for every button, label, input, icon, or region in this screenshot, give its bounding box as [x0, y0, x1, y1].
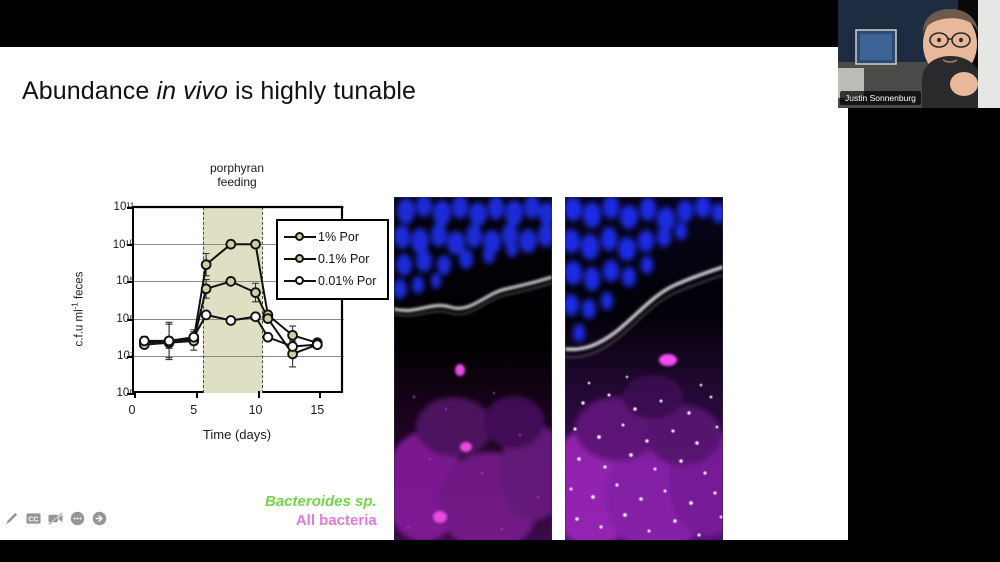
svg-text:CC: CC: [28, 516, 38, 523]
chart-data-point: [288, 342, 297, 351]
chart-data-point: [263, 333, 272, 342]
slide-title-part1: Abundance: [22, 77, 156, 105]
legend-marker-icon: [284, 275, 316, 287]
chart-data-point: [140, 337, 149, 346]
participant-name-label: Justin Sonnenburg: [840, 91, 921, 105]
chart-x-tick-label: 0: [129, 403, 136, 417]
chart-data-point: [313, 340, 322, 349]
chart-legend: 1% Por0.1% Por0.01% Por: [276, 219, 389, 300]
more-options-icon[interactable]: [70, 511, 85, 526]
legend-item: 0.1% Por: [284, 248, 381, 270]
legend-item-label: 0.01% Por: [316, 274, 376, 288]
micrograph-low-dose: [394, 197, 552, 540]
chart-y-tick-label: 10⁶: [116, 387, 134, 399]
chart-data-point: [251, 288, 260, 297]
chart-data-point: [202, 260, 211, 269]
chart-x-tick-label: 10: [249, 403, 263, 417]
pencil-annotate-icon[interactable]: [4, 511, 19, 526]
chart-y-tick-label: 10⁹: [116, 275, 134, 287]
chart-data-point: [251, 312, 260, 321]
chart-data-point: [288, 331, 297, 340]
chart-y-tick-label: 10¹⁰: [113, 237, 134, 251]
legend-item: 0.01% Por: [284, 270, 381, 292]
meeting-screen-share-view: Abundance in vivo is highly tunable porp…: [0, 0, 1000, 562]
color-key-bacteroides: Bacteroides sp.: [265, 492, 377, 511]
chart-x-tick-label: 5: [190, 403, 197, 417]
legend-item-label: 0.1% Por: [316, 252, 369, 266]
chart-data-point: [251, 240, 260, 249]
legend-item-label: 1% Por: [316, 230, 359, 244]
slide-title-part2: is highly tunable: [228, 77, 416, 105]
chart-y-tick-label: 10⁸: [116, 313, 134, 325]
legend-item: 1% Por: [284, 226, 381, 248]
growth-curve-chart: porphyran feeding c.f.u ml-1 feces Time …: [80, 159, 400, 459]
closed-captions-icon[interactable]: CC: [26, 511, 41, 526]
chart-data-point: [189, 333, 198, 342]
legend-marker-icon: [284, 253, 316, 265]
fluorescence-color-key: Bacteroides sp. All bacteria: [265, 492, 377, 530]
slide-title-italic: in vivo: [156, 77, 228, 105]
legend-marker-icon: [284, 231, 316, 243]
color-key-all-bacteria: All bacteria: [265, 511, 377, 530]
chart-data-point: [202, 310, 211, 319]
slide-title: Abundance in vivo is highly tunable: [22, 77, 416, 106]
chart-data-point: [202, 284, 211, 293]
forward-arrow-icon[interactable]: [92, 511, 107, 526]
micrograph-high-dose: [565, 197, 723, 540]
screenshare-toolbar: CC: [4, 511, 107, 526]
presentation-slide: Abundance in vivo is highly tunable porp…: [0, 47, 848, 540]
chart-data-point: [226, 316, 235, 325]
chart-data-point: [226, 277, 235, 286]
chart-x-tick-label: 15: [310, 403, 324, 417]
chart-data-point: [263, 314, 272, 323]
chart-data-point: [165, 337, 174, 346]
participant-video-tile[interactable]: Justin Sonnenburg: [838, 0, 1000, 108]
chart-data-point: [226, 240, 235, 249]
chart-y-tick-label: 10¹¹: [114, 201, 134, 213]
chart-y-tick-label: 10⁷: [117, 350, 134, 362]
camera-off-icon[interactable]: [48, 511, 63, 526]
